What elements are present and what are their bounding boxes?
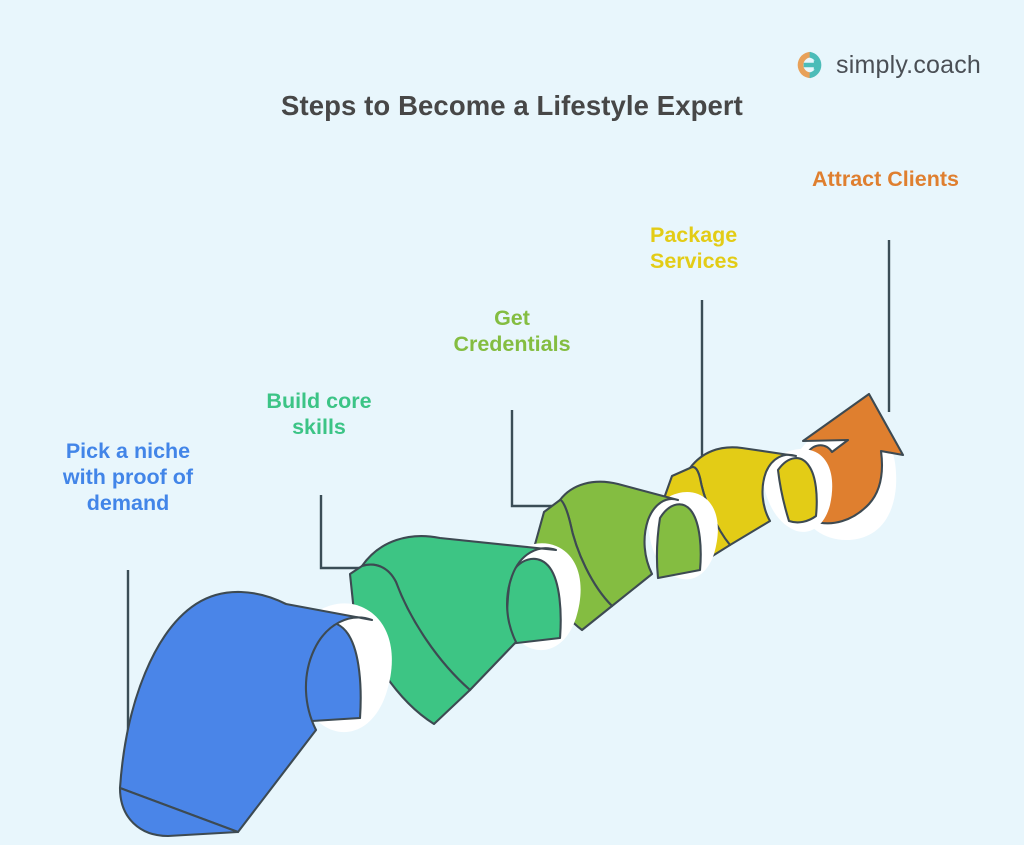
step-3-front-tab [657,504,701,578]
step-label-build-core-skills: Build core skills [239,388,399,440]
step-2-front-tab [507,559,561,644]
step-label-attract-clients: Attract Clients [812,166,1024,192]
step-label-get-credentials: Get Credentials [430,305,594,357]
steps-ribbon-graphic: .rib { stroke:#3d4a52; stroke-width:2.1;… [0,0,1024,845]
step-label-package-services: Package Services [650,222,840,274]
infographic-page: simply.coach Steps to Become a Lifestyle… [0,0,1024,845]
ribbon-step-1-pick-a-niche [120,592,392,836]
step-label-pick-a-niche: Pick a niche with proof of demand [42,438,214,516]
